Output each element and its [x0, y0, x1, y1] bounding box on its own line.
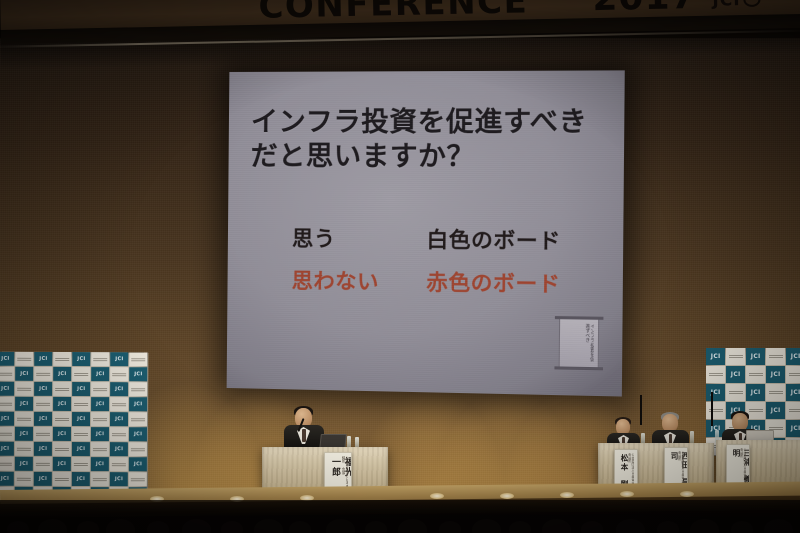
slide-option-2-board: 赤色のボード [426, 266, 561, 298]
jci-logo-icon: JCI [39, 386, 47, 392]
jci-logo-icon: JCI [791, 353, 800, 360]
backdrop-logo-tile: JCI [53, 427, 71, 441]
sponsor-name-lines [93, 446, 107, 452]
audience-head [542, 519, 571, 533]
jci-logo-icon: JCI [58, 461, 66, 467]
audience-head [581, 521, 603, 533]
sponsor-name-lines [0, 431, 12, 437]
sponsor-name-lines [789, 408, 800, 414]
backdrop-logo-tile: JCI [72, 382, 90, 396]
jci-logo-icon: JCI [791, 389, 800, 396]
audience-head [326, 519, 355, 533]
sponsor-name-lines [112, 431, 126, 437]
microphone-stand [640, 395, 642, 425]
sponsor-name-lines [0, 371, 12, 377]
backdrop-logo-tile: JCI [110, 472, 128, 486]
sponsor-name-lines [112, 461, 126, 467]
backdrop-logo-tile: JCI [766, 402, 785, 419]
backdrop-sponsor-tile [34, 367, 52, 381]
nameplate-title: 公益社団法人日本青年会議所 [677, 451, 684, 485]
sponsor-name-lines [729, 390, 743, 396]
jci-logo-icon: JCI [39, 416, 47, 422]
sponsor-name-lines [769, 354, 783, 360]
jci-logo-icon: JCI [58, 401, 66, 407]
backdrop-sponsor-tile [72, 457, 90, 471]
backdrop-sponsor-tile [91, 472, 109, 486]
jci-logo-icon: JCI [134, 431, 142, 437]
audience-head [764, 519, 793, 533]
jci-logo-icon: JCI [39, 356, 47, 362]
jci-logo-icon: JCI [115, 446, 123, 452]
backdrop-sponsor-tile [91, 412, 109, 426]
backdrop-sponsor-tile [91, 442, 109, 456]
jci-logo-icon: JCI [96, 401, 104, 407]
backdrop-logo-tile: JCI [129, 427, 147, 441]
slide-option-2-answer: 思わない [292, 265, 380, 296]
backdrop-logo-tile: JCI [746, 348, 765, 365]
backdrop-logo-tile: JCI [15, 457, 33, 471]
jci-logo-icon: JCI [134, 401, 142, 407]
backdrop-logo-tile: JCI [129, 397, 147, 411]
sponsor-name-lines [37, 371, 51, 377]
jci-logo-icon: JCI [96, 461, 104, 467]
backdrop-sponsor-tile [129, 472, 147, 486]
backdrop-logo-tile: JCI [0, 442, 14, 456]
banner-title: CONFERENCE [258, 0, 529, 27]
sponsor-name-lines [75, 371, 89, 377]
backdrop-sponsor-tile [72, 367, 90, 381]
banner-jci-logo: JCI [712, 0, 761, 11]
backdrop-sponsor-tile [15, 412, 33, 426]
backdrop-logo-tile: JCI [15, 397, 33, 411]
banner-jci-text: JCI [712, 0, 741, 11]
audience-head [221, 521, 243, 533]
backdrop-logo-tile: JCI [91, 427, 109, 441]
jci-logo-icon: JCI [58, 431, 66, 437]
backdrop-logo-tile: JCI [34, 382, 52, 396]
jci-logo-icon: JCI [20, 401, 28, 407]
audience-head [365, 521, 387, 533]
slide-option-1-answer: 思う [292, 223, 336, 254]
backdrop-sponsor-tile [129, 412, 147, 426]
backdrop-logo-tile: JCI [129, 367, 147, 381]
sponsor-name-lines [36, 461, 50, 467]
sponsor-name-lines [769, 390, 783, 396]
sponsor-name-lines [36, 401, 50, 407]
jci-logo-icon: JCI [115, 416, 123, 422]
backdrop-logo-tile: JCI [53, 397, 71, 411]
audience-silhouettes [0, 493, 800, 533]
nameplate-panelist-3: 三浦 義明 公益社団法人日本青年会議所 [726, 444, 750, 486]
sponsor-name-lines [132, 386, 146, 392]
moderator-tie [302, 429, 306, 442]
sponsor-name-lines [55, 476, 69, 482]
backdrop-logo-tile: JCI [15, 427, 33, 441]
sponsor-name-lines [18, 356, 32, 362]
backdrop-sponsor-tile [0, 367, 15, 381]
jci-logo-icon: JCI [115, 476, 123, 482]
jci-logo-icon: JCI [58, 371, 66, 377]
sponsor-name-lines [94, 386, 108, 392]
sponsor-name-lines [17, 476, 31, 482]
backdrop-logo-tile: JCI [786, 420, 800, 437]
jci-logo-icon: JCI [1, 476, 9, 482]
nameplate-title: 公益社団法人日本青年会議所 [739, 448, 746, 482]
backdrop-logo-tile: JCI [0, 352, 15, 366]
backdrop-logo-tile: JCI [53, 367, 71, 381]
backdrop-logo-tile: JCI [34, 472, 52, 486]
sponsor-name-lines [94, 356, 108, 362]
backdrop-sponsor-tile [34, 457, 52, 471]
audience-head [289, 521, 311, 533]
backdrop-logo-tile: JCI [706, 384, 725, 401]
jci-logo-icon: JCI [751, 389, 761, 396]
backdrop-logo-tile: JCI [0, 382, 15, 396]
backdrop-logo-tile: JCI [129, 457, 147, 471]
audience-head [7, 521, 29, 533]
backdrop-logo-tile: JCI [72, 442, 90, 456]
backdrop-sponsor-tile [53, 472, 71, 486]
audience-head [106, 519, 135, 533]
backdrop-sponsor-tile [129, 442, 147, 456]
backdrop-sponsor-tile [746, 366, 765, 383]
backdrop-sponsor-tile [0, 397, 14, 411]
jci-logo-icon: JCI [791, 425, 800, 432]
backdrop-logo-tile: JCI [72, 352, 90, 366]
audience-head [147, 521, 169, 533]
jci-logo-icon: JCI [96, 431, 104, 437]
backdrop-logo-tile: JCI [0, 472, 14, 486]
backdrop-logo-tile: JCI [110, 412, 128, 426]
backdrop-logo-tile: JCI [91, 367, 109, 381]
jci-logo-icon: JCI [77, 356, 85, 362]
jci-logo-icon: JCI [134, 461, 142, 467]
jci-logo-icon: JCI [20, 371, 28, 377]
jci-logo-icon: JCI [39, 446, 47, 452]
jci-logo-icon: JCI [115, 386, 123, 392]
sponsor-name-lines [36, 431, 50, 437]
backdrop-logo-tile: JCI [110, 442, 128, 456]
backdrop-sponsor-tile [110, 427, 128, 441]
jci-logo-icon: JCI [711, 353, 721, 360]
jci-diamond-icon [743, 0, 760, 7]
jci-logo-icon: JCI [1, 386, 9, 392]
backdrop-logo-tile: JCI [34, 442, 52, 456]
backdrop-sponsor-tile [34, 397, 52, 411]
backdrop-logo-tile: JCI [34, 352, 52, 366]
sponsor-backdrop-left: JCIJCIJCIJCIJCIJCIJCIJCIJCIJCIJCIJCIJCIJ… [0, 352, 148, 503]
jci-logo-icon: JCI [771, 371, 781, 378]
audience-head [690, 519, 719, 533]
audience-head [254, 519, 283, 533]
audience-head [657, 521, 679, 533]
jci-logo-icon: JCI [1, 416, 9, 422]
backdrop-logo-tile: JCI [91, 397, 109, 411]
backdrop-sponsor-tile [15, 352, 33, 366]
scroll-text: インフラ投資を促進すべき [566, 323, 594, 363]
sponsor-name-lines [56, 356, 70, 362]
jci-logo-icon: JCI [115, 356, 123, 362]
audience-head [439, 521, 461, 533]
jci-logo-icon: JCI [1, 446, 9, 452]
sponsor-name-lines [0, 401, 12, 407]
sponsor-name-lines [55, 446, 69, 452]
backdrop-sponsor-tile [0, 427, 14, 441]
backdrop-sponsor-tile [34, 427, 52, 441]
audience-head [731, 521, 753, 533]
sponsor-name-lines [749, 372, 763, 378]
jci-logo-icon: JCI [77, 476, 85, 482]
backdrop-logo-tile: JCI [34, 412, 52, 426]
backdrop-logo-tile: JCI [72, 472, 90, 486]
backdrop-sponsor-tile [726, 384, 745, 401]
jci-logo-icon: JCI [77, 386, 85, 392]
backdrop-sponsor-tile [72, 427, 90, 441]
backdrop-logo-tile: JCI [766, 366, 785, 383]
audience-head [472, 519, 501, 533]
backdrop-logo-tile: JCI [706, 348, 725, 365]
audience-head [182, 519, 211, 533]
backdrop-logo-tile: JCI [746, 384, 765, 401]
backdrop-sponsor-tile [129, 352, 147, 366]
backdrop-sponsor-tile [110, 397, 128, 411]
backdrop-sponsor-tile [786, 366, 800, 383]
sponsor-name-lines [93, 416, 107, 422]
slide-surface: インフラ投資を促進すべきだと思いますか？ 思う 白色のボード 思わない 赤色のボ… [227, 70, 625, 396]
backdrop-sponsor-tile [53, 412, 71, 426]
backdrop-sponsor-tile [53, 382, 71, 396]
backdrop-sponsor-tile [72, 397, 90, 411]
sponsor-name-lines [0, 461, 12, 467]
backdrop-logo-tile: JCI [72, 412, 90, 426]
backdrop-logo-tile: JCI [786, 348, 800, 365]
jci-logo-icon: JCI [731, 371, 741, 378]
nameplate-title: 公益社団法人日本青年会議所 [627, 453, 634, 487]
jci-logo-icon: JCI [39, 476, 47, 482]
backdrop-sponsor-tile [706, 366, 725, 383]
sponsor-name-lines [789, 372, 800, 378]
backdrop-logo-tile: JCI [53, 457, 71, 471]
jci-logo-icon: JCI [751, 353, 761, 360]
audience-head [509, 521, 531, 533]
audience-head [77, 521, 99, 533]
backdrop-sponsor-tile [110, 367, 128, 381]
sponsor-name-lines [131, 446, 145, 452]
backdrop-sponsor-tile [110, 457, 128, 471]
sponsor-name-lines [17, 416, 31, 422]
sponsor-name-lines [93, 476, 107, 482]
audience-head [38, 519, 67, 533]
backdrop-sponsor-tile [0, 457, 14, 471]
backdrop-sponsor-tile [15, 382, 33, 396]
backdrop-logo-tile: JCI [91, 457, 109, 471]
jci-logo-icon: JCI [771, 407, 781, 414]
sponsor-name-lines [74, 461, 88, 467]
backdrop-logo-tile: JCI [110, 352, 128, 366]
sponsor-name-lines [131, 416, 145, 422]
sponsor-name-lines [113, 371, 127, 377]
banner-year: 2017 [592, 0, 697, 19]
backdrop-sponsor-tile [766, 384, 785, 401]
audience-head [616, 519, 645, 533]
backdrop-sponsor-tile [15, 442, 33, 456]
audience-head [398, 519, 427, 533]
sponsor-name-lines [74, 431, 88, 437]
jci-logo-icon: JCI [77, 416, 85, 422]
backdrop-sponsor-tile [15, 472, 33, 486]
jci-logo-icon: JCI [77, 446, 85, 452]
sponsor-name-lines [131, 476, 145, 482]
backdrop-sponsor-tile [91, 352, 109, 366]
sponsor-name-lines [132, 356, 146, 362]
sponsor-name-lines [74, 401, 88, 407]
sponsor-name-lines [55, 416, 69, 422]
jci-logo-icon: JCI [134, 371, 142, 377]
sponsor-name-lines [17, 446, 31, 452]
backdrop-sponsor-tile [786, 402, 800, 419]
sponsor-name-lines [18, 386, 32, 392]
jci-logo-icon: JCI [96, 371, 104, 377]
slide-question: インフラ投資を促進すべきだと思いますか？ [250, 105, 609, 175]
projection-screen: インフラ投資を促進すべきだと思いますか？ 思う 白色のボード 思わない 赤色のボ… [227, 70, 625, 396]
sponsor-name-lines [709, 372, 723, 378]
backdrop-logo-tile: JCI [0, 412, 14, 426]
backdrop-logo-tile: JCI [726, 366, 745, 383]
backdrop-sponsor-tile [129, 382, 147, 396]
sponsor-name-lines [729, 354, 743, 360]
backdrop-sponsor-tile [53, 442, 71, 456]
jci-logo-icon: JCI [20, 431, 28, 437]
backdrop-sponsor-tile [53, 352, 71, 366]
microphone-stand [711, 392, 713, 426]
backdrop-sponsor-tile [91, 382, 109, 396]
vertical-scroll-icon: インフラ投資を促進すべき [559, 317, 600, 369]
backdrop-logo-tile: JCI [15, 367, 33, 381]
backdrop-logo-tile: JCI [110, 382, 128, 396]
sponsor-name-lines [112, 401, 126, 407]
backdrop-logo-tile: JCI [786, 384, 800, 401]
backdrop-sponsor-tile [726, 348, 745, 365]
jci-logo-icon: JCI [20, 461, 28, 467]
slide-option-1-board: 白色のボード [426, 224, 561, 256]
sponsor-name-lines [56, 386, 70, 392]
jci-logo-icon: JCI [1, 356, 9, 362]
backdrop-sponsor-tile [766, 348, 785, 365]
conference-stage-photo: CONFERENCE 2017 JCI インフラ投資を促進すべきだと思いますか？… [0, 0, 800, 533]
